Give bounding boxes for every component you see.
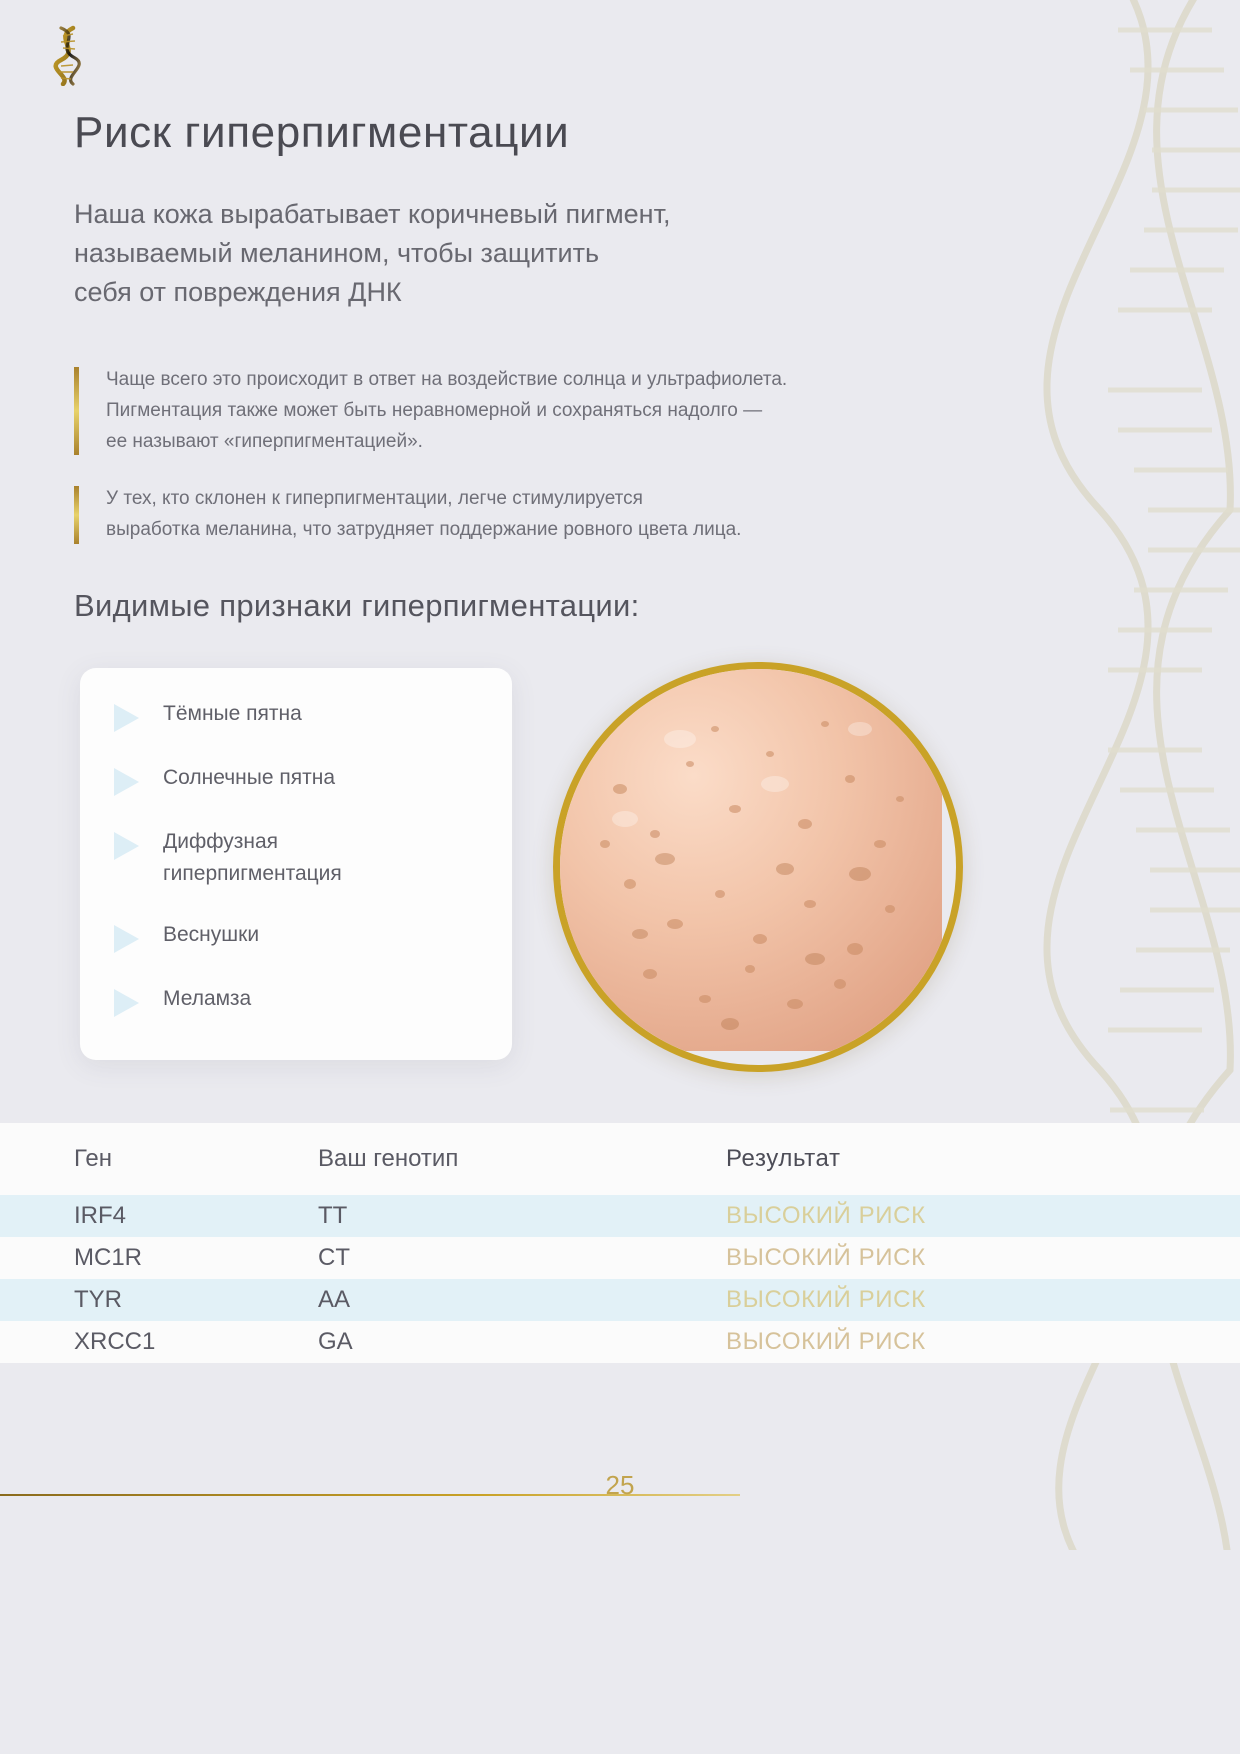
triangle-right-icon bbox=[114, 925, 139, 953]
table-row: IRF4 TT ВЫСОКИЙ РИСК bbox=[0, 1195, 1240, 1237]
triangle-right-icon bbox=[114, 832, 139, 860]
column-header-gene: Ген bbox=[0, 1145, 318, 1173]
column-header-genotype: Ваш генотип bbox=[318, 1145, 726, 1173]
gold-accent-bar bbox=[74, 367, 79, 455]
callout-line: Пигментация также может быть неравномерн… bbox=[106, 396, 1006, 427]
cell-gene: IRF4 bbox=[0, 1202, 318, 1230]
column-header-result: Результат bbox=[726, 1145, 841, 1173]
callout-text: Чаще всего это происходит в ответ на воз… bbox=[106, 365, 1006, 457]
dna-helix-icon bbox=[45, 24, 89, 86]
signs-heading: Видимые признаки гиперпигментации: bbox=[74, 588, 640, 624]
page-title: Риск гиперпигментации bbox=[74, 108, 569, 159]
status-badge: ВЫСОКИЙ РИСК bbox=[726, 1202, 926, 1230]
sign-label: Солнечные пятна bbox=[163, 762, 335, 794]
callout-line: У тех, кто склонен к гиперпигментации, л… bbox=[106, 484, 1006, 515]
callout-block: У тех, кто склонен к гиперпигментации, л… bbox=[74, 484, 1006, 546]
cell-genotype: GA bbox=[318, 1328, 726, 1356]
table-row: XRCC1 GA ВЫСОКИЙ РИСК bbox=[0, 1321, 1240, 1363]
signs-list: Тёмные пятна Солнечные пятна Диффузная г… bbox=[114, 698, 490, 1017]
table-row: TYR AA ВЫСОКИЙ РИСК bbox=[0, 1279, 1240, 1321]
list-item: Тёмные пятна bbox=[114, 698, 490, 732]
cell-genotype: CT bbox=[318, 1244, 726, 1272]
cell-gene: TYR bbox=[0, 1286, 318, 1314]
sign-label: Диффузная гиперпигментация bbox=[163, 826, 403, 889]
callout-block: Чаще всего это происходит в ответ на воз… bbox=[74, 365, 1006, 457]
list-item: Меламза bbox=[114, 983, 490, 1017]
cell-gene: MC1R bbox=[0, 1244, 318, 1272]
list-item: Диффузная гиперпигментация bbox=[114, 826, 490, 889]
list-item: Солнечные пятна bbox=[114, 762, 490, 796]
sign-label: Веснушки bbox=[163, 919, 259, 951]
signs-card: Тёмные пятна Солнечные пятна Диффузная г… bbox=[80, 668, 512, 1060]
intro-line: себя от повреждения ДНК bbox=[74, 273, 954, 312]
status-badge: ВЫСОКИЙ РИСК bbox=[726, 1328, 926, 1356]
intro-line: называемый меланином, чтобы защитить bbox=[74, 234, 954, 273]
callout-line: ее называют «гиперпигментацией». bbox=[106, 427, 1006, 458]
table-header-row: Ген Ваш генотип Результат bbox=[0, 1123, 1240, 1195]
status-badge: ВЫСОКИЙ РИСК bbox=[726, 1244, 926, 1272]
callout-line: Чаще всего это происходит в ответ на воз… bbox=[106, 365, 1006, 396]
skin-closeup-photo bbox=[553, 662, 963, 1072]
gold-accent-bar bbox=[74, 486, 79, 544]
report-page: Риск гиперпигментации Наша кожа вырабаты… bbox=[0, 0, 1240, 1754]
callout-text: У тех, кто склонен к гиперпигментации, л… bbox=[106, 484, 1006, 546]
cell-gene: XRCC1 bbox=[0, 1328, 318, 1356]
triangle-right-icon bbox=[114, 768, 139, 796]
results-table: Ген Ваш генотип Результат IRF4 TT ВЫСОКИ… bbox=[0, 1123, 1240, 1363]
sign-label: Меламза bbox=[163, 983, 251, 1015]
triangle-right-icon bbox=[114, 989, 139, 1017]
page-number: 25 bbox=[0, 1470, 1240, 1501]
intro-line: Наша кожа вырабатывает коричневый пигмен… bbox=[74, 195, 954, 234]
list-item: Веснушки bbox=[114, 919, 490, 953]
sign-label: Тёмные пятна bbox=[163, 698, 302, 730]
cell-genotype: AA bbox=[318, 1286, 726, 1314]
triangle-right-icon bbox=[114, 704, 139, 732]
status-badge: ВЫСОКИЙ РИСК bbox=[726, 1286, 926, 1314]
table-row: MC1R CT ВЫСОКИЙ РИСК bbox=[0, 1237, 1240, 1279]
cell-genotype: TT bbox=[318, 1202, 726, 1230]
intro-paragraph: Наша кожа вырабатывает коричневый пигмен… bbox=[74, 195, 954, 312]
callout-line: выработка меланина, что затрудняет подде… bbox=[106, 515, 1006, 546]
